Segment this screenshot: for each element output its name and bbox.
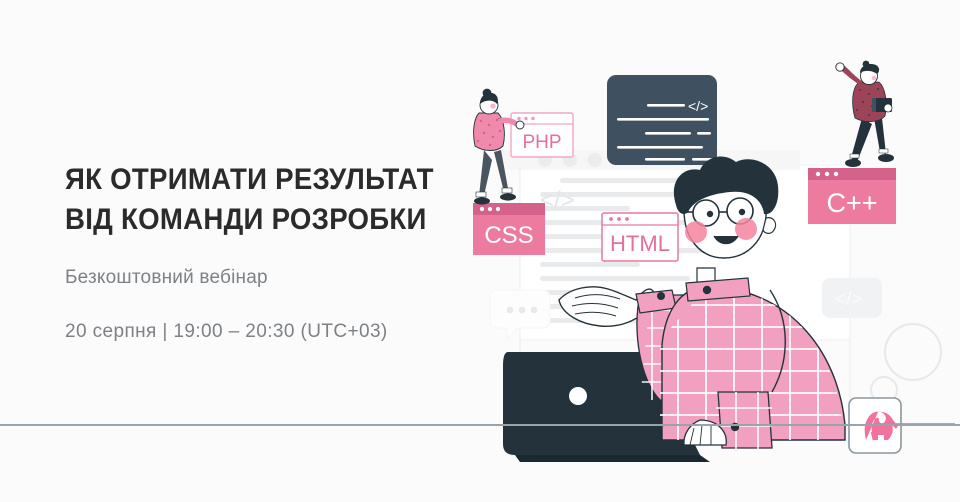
card-html: HTML: [602, 213, 678, 261]
card-label: PHP: [522, 132, 561, 153]
subtitle-line-2: 20 серпня | 19:00 – 20:30 (UTC+03): [65, 316, 465, 348]
card-label: C++: [826, 188, 877, 218]
subtitle-line-1: Безкоштовний вебінар: [65, 262, 465, 294]
code-window: </>: [607, 75, 717, 165]
headline-line-2: ВІД КОМАНДИ РОЗРОБКИ: [65, 200, 433, 240]
code-badge-decor: </>: [822, 278, 882, 318]
card-css: CSS: [473, 203, 545, 255]
card-label: HTML: [610, 231, 670, 256]
code-glyph-icon: </>: [835, 289, 862, 310]
card-php: PHP: [511, 113, 573, 157]
card-label: CSS: [484, 222, 533, 249]
ground-line: [0, 424, 960, 426]
code-glyph-icon: </>: [540, 187, 575, 214]
card-cpp: C++: [808, 168, 896, 224]
text-block: ЯК ОТРИМАТИ РЕЗУЛЬТАТ ВІД КОМАНДИ РОЗРОБ…: [65, 160, 465, 348]
code-glyph-icon: </>: [688, 98, 708, 114]
person-holding-book-on-cpp-card: [836, 61, 894, 167]
mug-with-dinosaur: [849, 398, 955, 453]
decorative-circle: [885, 324, 941, 380]
headline-line-1: ЯК ОТРИМАТИ РЕЗУЛЬТАТ: [65, 160, 433, 200]
webinar-banner: </> </> </>: [0, 0, 960, 502]
